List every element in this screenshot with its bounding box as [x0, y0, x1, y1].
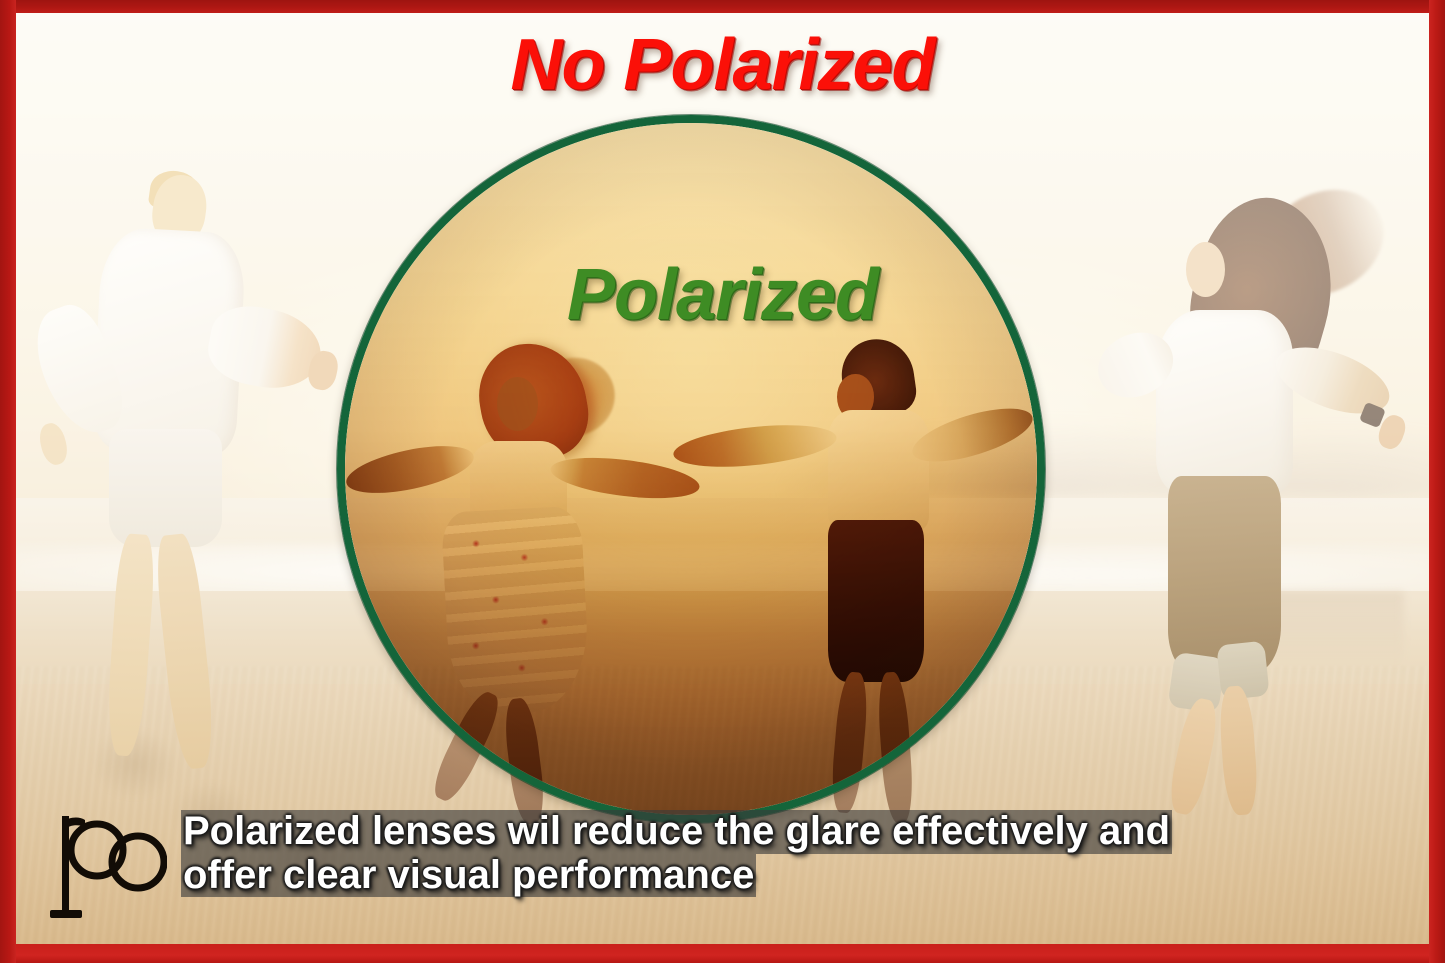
- lens-vignette: [345, 123, 1037, 815]
- headline-no-polarized: No Polarized: [13, 29, 1432, 101]
- caption-line-1: Polarized lenses wil reduce the glare ef…: [181, 810, 1172, 854]
- caption-text: Polarized lenses wil reduce the glare ef…: [181, 808, 1414, 897]
- frame-border-bottom: [0, 944, 1445, 963]
- caption-bar: Polarized lenses wil reduce the glare ef…: [49, 808, 1414, 924]
- beach-photo: No Polarized Polarized Pola: [13, 12, 1432, 946]
- polarized-lens-overlay: [337, 115, 1045, 823]
- polarized-lens-ad: No Polarized Polarized Pola: [0, 0, 1445, 963]
- frame-border-left: [0, 0, 16, 963]
- eyeglasses-icon: [49, 814, 167, 924]
- caption-line-2: offer clear visual performance: [181, 854, 756, 898]
- headline-polarized: Polarized: [13, 259, 1432, 331]
- frame-border-right: [1429, 0, 1445, 963]
- frame-border-top: [0, 0, 1445, 13]
